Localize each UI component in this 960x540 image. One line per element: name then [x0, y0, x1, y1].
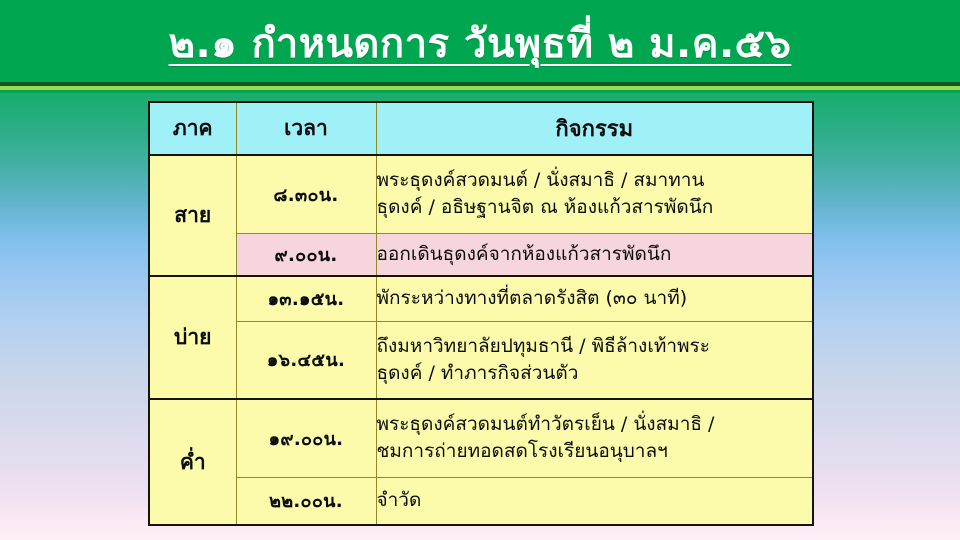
section-label-cell: บ่าย: [149, 276, 236, 399]
schedule-table: ภาค เวลา กิจกรรม สาย๘.๓๐น.พระธุดงค์สวดมน…: [148, 101, 814, 526]
activity-cell: จำวัด: [376, 477, 813, 525]
column-header-time: เวลา: [236, 102, 376, 155]
slide-title: ๒.๑ กำหนดการ วันพุธที่ ๒ ม.ค.๕๖: [0, 0, 960, 82]
table-row: ๒๒.๐๐น.จำวัด: [149, 477, 813, 525]
time-cell: ๒๒.๐๐น.: [236, 477, 376, 525]
activity-line: จำวัด: [377, 487, 813, 514]
activity-cell: พระธุดงค์สวดมนต์ทำวัตรเย็น / นั่งสมาธิ /…: [376, 399, 813, 477]
title-band: ๒.๑ กำหนดการ วันพุธที่ ๒ ม.ค.๕๖: [0, 0, 960, 82]
section-label-cell: สาย: [149, 155, 236, 276]
title-band-bottom-fill: [0, 90, 960, 93]
column-header-activity: กิจกรรม: [376, 102, 813, 155]
time-cell: ๑๙.๐๐น.: [236, 399, 376, 477]
table-row: สาย๘.๓๐น.พระธุดงค์สวดมนต์ / นั่งสมาธิ / …: [149, 155, 813, 233]
table-header-row: ภาค เวลา กิจกรรม: [149, 102, 813, 155]
table-row: ๑๖.๔๕น.ถึงมหาวิทยาลัยปทุมธานี / พิธีล้าง…: [149, 321, 813, 399]
activity-line: ถึงมหาวิทยาลัยปทุมธานี / พิธีล้างเท้าพระ: [377, 333, 813, 360]
time-cell: ๘.๓๐น.: [236, 155, 376, 233]
column-header-section: ภาค: [149, 102, 236, 155]
activity-line: พระธุดงค์สวดมนต์ / นั่งสมาธิ / สมาทาน: [377, 167, 813, 194]
activity-cell: ถึงมหาวิทยาลัยปทุมธานี / พิธีล้างเท้าพระ…: [376, 321, 813, 399]
time-cell: ๙.๐๐น.: [236, 233, 376, 276]
activity-line: พระธุดงค์สวดมนต์ทำวัตรเย็น / นั่งสมาธิ /: [377, 411, 813, 438]
table-header: ภาค เวลา กิจกรรม: [149, 102, 813, 155]
time-cell: ๑๖.๔๕น.: [236, 321, 376, 399]
table-row: ๙.๐๐น.ออกเดินธุดงค์จากห้องแก้วสารพัดนึก: [149, 233, 813, 276]
presentation-slide: ๒.๑ กำหนดการ วันพุธที่ ๒ ม.ค.๕๖ ภาค เวลา…: [0, 0, 960, 540]
activity-cell: พระธุดงค์สวดมนต์ / นั่งสมาธิ / สมาทานธุด…: [376, 155, 813, 233]
table-row: ค่ำ๑๙.๐๐น.พระธุดงค์สวดมนต์ทำวัตรเย็น / น…: [149, 399, 813, 477]
section-label-cell: ค่ำ: [149, 399, 236, 525]
activity-line: ธุดงค์ / ทำภารกิจส่วนตัว: [377, 360, 813, 387]
activity-line: พักระหว่างทางที่ตลาดรังสิต (๓๐ นาที): [377, 285, 813, 312]
activity-line: ธุดงค์ / อธิษฐานจิต ณ ห้องแก้วสารพัดนึก: [377, 194, 813, 221]
table-body: สาย๘.๓๐น.พระธุดงค์สวดมนต์ / นั่งสมาธิ / …: [149, 155, 813, 525]
activity-cell: พักระหว่างทางที่ตลาดรังสิต (๓๐ นาที): [376, 276, 813, 321]
activity-line: ชมการถ่ายทอดสดโรงเรียนอนุบาลฯ: [377, 438, 813, 465]
activity-cell: ออกเดินธุดงค์จากห้องแก้วสารพัดนึก: [376, 233, 813, 276]
table-row: บ่าย๑๓.๑๕น.พักระหว่างทางที่ตลาดรังสิต (๓…: [149, 276, 813, 321]
schedule-table-container: ภาค เวลา กิจกรรม สาย๘.๓๐น.พระธุดงค์สวดมน…: [148, 101, 812, 526]
time-cell: ๑๓.๑๕น.: [236, 276, 376, 321]
activity-line: ออกเดินธุดงค์จากห้องแก้วสารพัดนึก: [377, 241, 813, 268]
